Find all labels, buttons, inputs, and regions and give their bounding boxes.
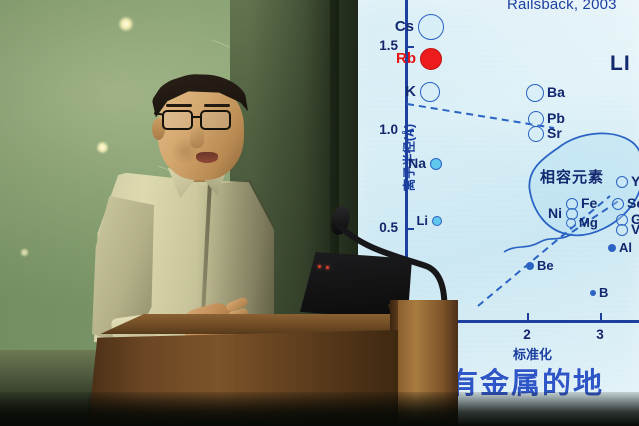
element-label: Ba <box>547 84 565 100</box>
element-circle <box>616 176 628 188</box>
element-circle <box>616 224 628 236</box>
element-label: K <box>405 83 416 100</box>
presenter-mouth <box>196 152 218 163</box>
element-label: Y <box>631 173 639 189</box>
element-circle <box>420 48 442 70</box>
element-circle <box>430 158 442 170</box>
presenter-eyebrow <box>204 104 230 107</box>
presenter-eyebrow <box>166 104 192 107</box>
element-label: Be <box>537 258 554 273</box>
element-circle <box>608 244 616 252</box>
element-circle <box>590 290 596 296</box>
element-circle <box>528 111 544 127</box>
eyeglass-lens-left <box>162 110 193 130</box>
element-label: Pb <box>547 110 565 126</box>
element-label: Rb <box>396 50 416 67</box>
eyeglass-lens-right <box>200 110 231 130</box>
element-label: Na <box>408 155 426 171</box>
element-circle <box>528 126 544 142</box>
backdrop-light-dot <box>20 248 29 257</box>
element-circle <box>526 262 534 270</box>
element-circle <box>612 198 624 210</box>
element-label: Sr <box>547 125 562 141</box>
element-label: Cs <box>395 18 414 35</box>
element-circle <box>526 84 544 102</box>
element-label: Sc <box>627 195 639 211</box>
element-label: Al <box>619 240 632 255</box>
foreground-shadow <box>0 392 639 426</box>
element-label: Ni <box>548 205 562 221</box>
eyeglass-bridge <box>193 116 200 118</box>
backdrop-light-dot <box>96 141 109 154</box>
laptop-indicator-led <box>326 266 329 269</box>
element-circle <box>566 218 576 228</box>
element-label: Mg <box>579 215 598 230</box>
backdrop-light-dot <box>118 16 134 32</box>
element-circle <box>418 14 444 40</box>
element-label: V <box>631 221 639 237</box>
element-label: B <box>599 285 608 300</box>
element-circle <box>420 82 440 102</box>
eyeglasses <box>162 110 244 136</box>
laptop-indicator-led <box>318 265 321 268</box>
screenshot-root: Railsback, 2003 LI 1.5 1.0 0.5 2 3 离子半径(… <box>0 0 639 426</box>
element-label: Fe <box>581 195 597 211</box>
